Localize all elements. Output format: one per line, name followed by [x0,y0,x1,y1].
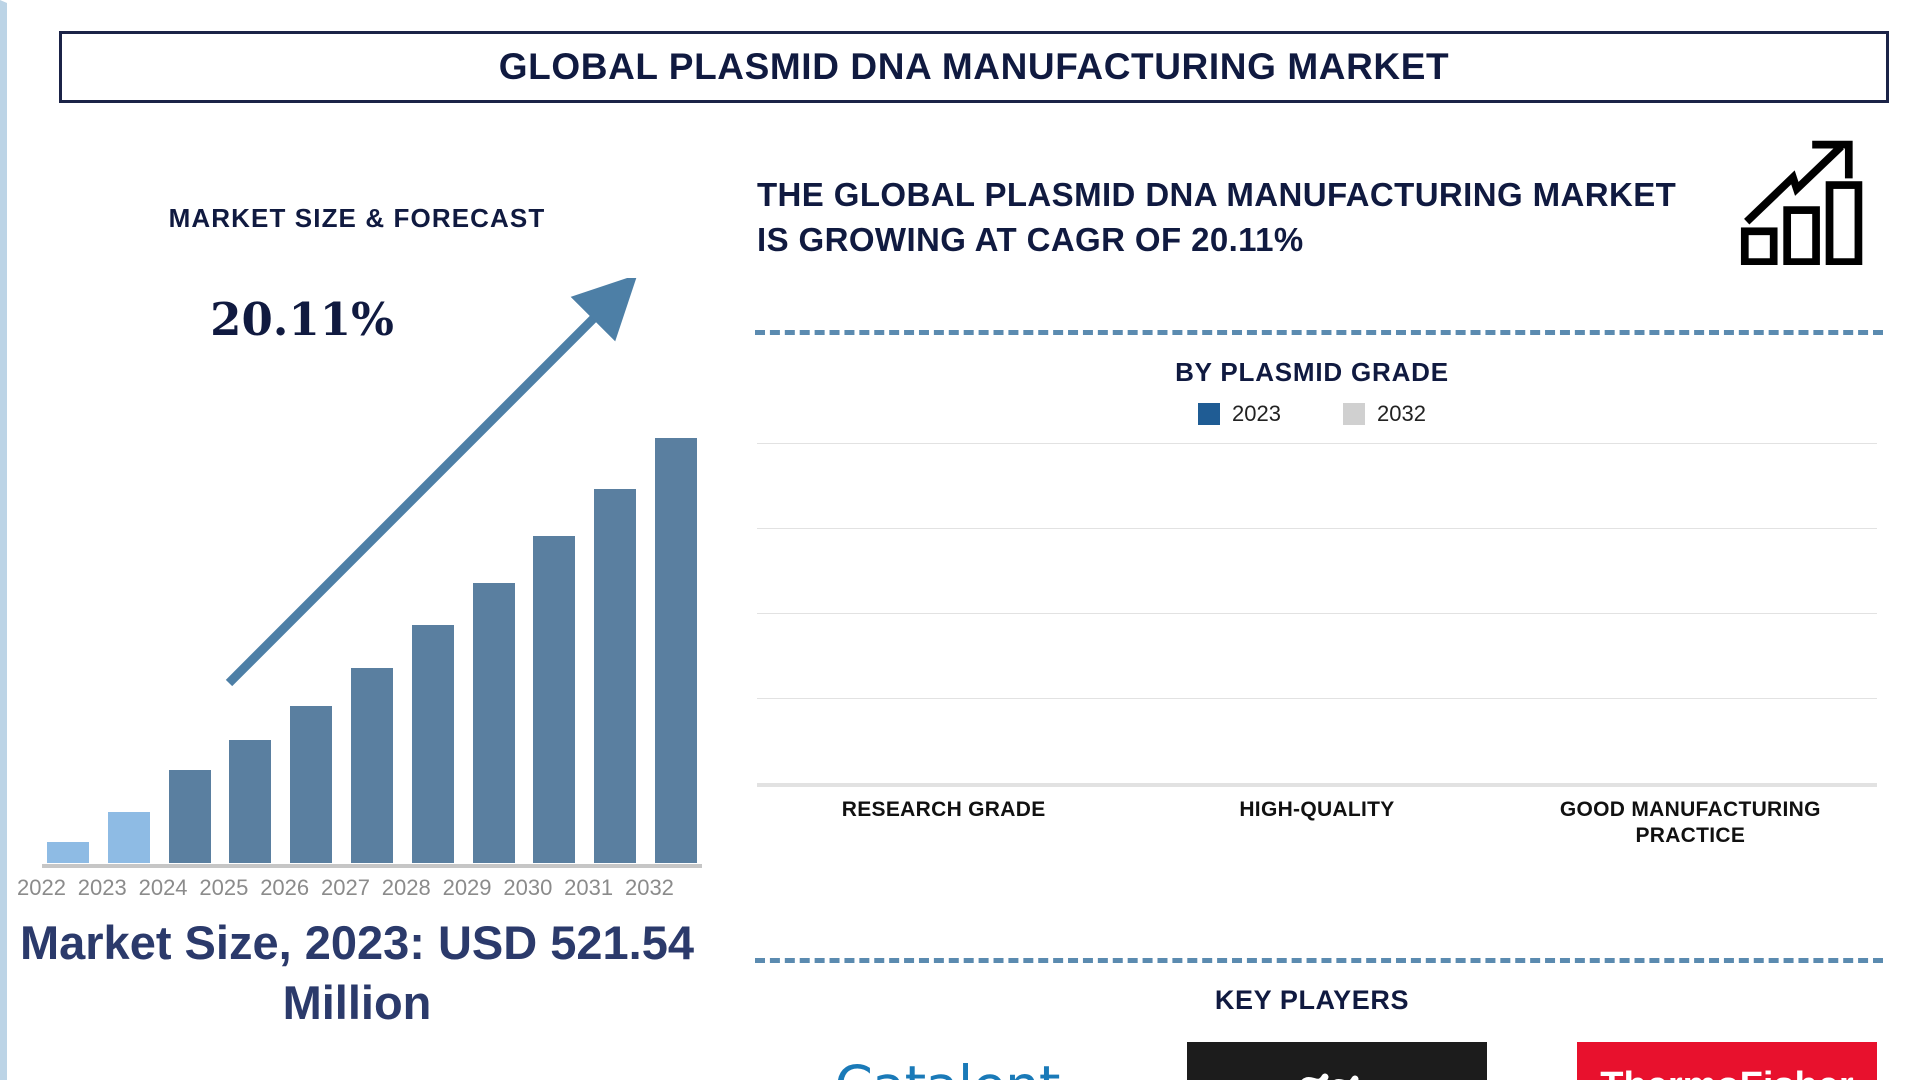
by-plasmid-grade-chart [757,443,1877,783]
year-label: 2029 [443,875,485,901]
year-label: 2028 [382,875,424,901]
cagr-annotation: 20.11% [157,293,447,346]
market-size-value: Market Size, 2023: USD 521.54 Million [17,913,697,1033]
bar-2031 [594,489,636,863]
bar-2025 [229,740,271,863]
grade-bar-groups [757,443,1877,783]
year-label: 2032 [625,875,667,901]
page-title-box: GLOBAL PLASMID DNA MANUFACTURING MARKET [59,31,1889,103]
category-label-high-quality: HIGH-QUALITY [1152,797,1482,850]
grade-category-labels: RESEARCH GRADE HIGH-QUALITY GOOD MANUFAC… [757,797,1877,850]
bar-2029 [473,583,515,864]
category-label-gmp: GOOD MANUFACTURING PRACTICE [1525,797,1855,850]
legend-item-2023: 2023 [1198,401,1281,427]
divider-top [755,330,1883,335]
year-label: 2031 [564,875,606,901]
legend-swatch-2032 [1343,403,1365,425]
market-size-bar-chart [37,433,707,868]
growth-bar-chart-arrow-icon [1737,135,1872,265]
bar-2030 [533,536,575,863]
market-size-heading: MARKET SIZE & FORECAST [7,203,707,234]
divider-bottom [755,958,1883,963]
year-label: 2024 [139,875,181,901]
bar-2022 [47,842,89,863]
legend-item-2032: 2032 [1343,401,1426,427]
legend-swatch-2023 [1198,403,1220,425]
grade-chart-axis [757,783,1877,787]
bar-2032 [655,438,697,863]
page-title: GLOBAL PLASMID DNA MANUFACTURING MARKET [499,46,1449,88]
logo-charles-river: charles river [1187,1042,1487,1080]
logo-catalent: Catalent BIOLOGICS [797,1059,1097,1080]
year-label: 2025 [199,875,241,901]
logo-thermofisher-wordmark: ThermoFisher [1600,1067,1853,1080]
year-label: 2026 [260,875,302,901]
right-panel: THE GLOBAL PLASMID DNA MANUFACTURING MAR… [737,113,1920,1080]
logo-catalent-wordmark: Catalent [835,1059,1060,1080]
legend-label-2023: 2023 [1232,401,1281,427]
year-label: 2023 [78,875,120,901]
category-label-research-grade: RESEARCH GRADE [779,797,1109,850]
bar-2024 [169,770,211,864]
legend-label-2032: 2032 [1377,401,1426,427]
key-players-logos: Catalent BIOLOGICS charles river ThermoF… [797,1033,1877,1080]
logo-thermofisher: ThermoFisher SCIENTIFIC [1577,1042,1877,1080]
bar-2027 [351,668,393,864]
bar-2028 [412,625,454,863]
infographic-page: GLOBAL PLASMID DNA MANUFACTURING MARKET … [0,0,1920,1080]
year-label: 2027 [321,875,363,901]
market-size-bars [47,438,697,863]
charles-river-wave-icon [1297,1069,1377,1080]
market-size-forecast-panel: MARKET SIZE & FORECAST 20.11% [7,113,737,1073]
bar-2023 [108,812,150,863]
key-players-title: KEY PLAYERS [737,985,1887,1016]
cagr-headline: THE GLOBAL PLASMID DNA MANUFACTURING MAR… [757,173,1677,263]
grade-chart-legend: 2023 2032 [737,401,1887,427]
market-size-year-axis: 2022 2023 2024 2025 2026 2027 2028 2029 … [17,875,667,901]
year-label: 2022 [17,875,59,901]
market-size-baseline [42,864,702,868]
bar-2026 [290,706,332,863]
year-label: 2030 [503,875,545,901]
by-plasmid-grade-title: BY PLASMID GRADE [737,357,1887,388]
